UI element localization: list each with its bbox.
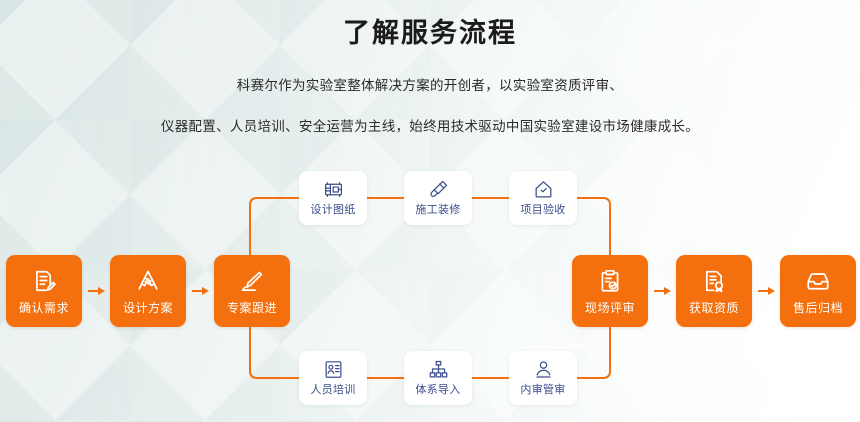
id-card-person-icon — [323, 359, 344, 380]
org-chart-icon — [428, 359, 449, 380]
sub-card-label: 人员培训 — [310, 384, 355, 397]
compass-draft-icon — [135, 268, 161, 294]
sub-card-staff-training[interactable]: 人员培训 — [299, 351, 367, 405]
sub-card-label: 内审管审 — [520, 384, 565, 397]
right-arrow-icon-1 — [88, 284, 106, 298]
right-arrow-icon-4 — [758, 284, 776, 298]
step-box-design-plan[interactable]: 设计方案 — [110, 255, 186, 327]
step-box-confirm-requirements[interactable]: 确认需求 — [6, 255, 82, 327]
step-box-onsite-review[interactable]: 现场评审 — [572, 255, 648, 327]
step-box-obtain-qualification[interactable]: 获取资质 — [676, 255, 752, 327]
paint-roller-icon — [428, 179, 449, 200]
sub-card-project-acceptance[interactable]: 项目验收 — [509, 171, 577, 225]
clipboard-check-icon — [597, 268, 623, 294]
right-arrow-icon-2 — [192, 284, 210, 298]
step-box-after-sales-archive[interactable]: 售后归档 — [780, 255, 856, 327]
step-label: 设计方案 — [123, 301, 173, 315]
sub-card-design-drawings[interactable]: 设计图纸 — [299, 171, 367, 225]
step-label: 现场评审 — [585, 301, 635, 315]
sub-card-label: 体系导入 — [415, 384, 460, 397]
sub-card-label: 施工装修 — [415, 204, 460, 217]
sub-card-internal-audit[interactable]: 内审管审 — [509, 351, 577, 405]
step-label: 获取资质 — [689, 301, 739, 315]
right-arrow-icon-3 — [654, 284, 672, 298]
document-pencil-icon — [31, 268, 57, 294]
step-label: 确认需求 — [19, 301, 69, 315]
service-process-flow: 确认需求 设计方案 专案跟进 现场评审 — [0, 0, 860, 422]
house-check-icon — [533, 179, 554, 200]
step-label: 售后归档 — [793, 301, 843, 315]
signature-pen-icon — [239, 268, 265, 294]
step-label: 专案跟进 — [227, 301, 277, 315]
sub-card-label: 项目验收 — [520, 204, 565, 217]
sub-card-construction-decoration[interactable]: 施工装修 — [404, 171, 472, 225]
certificate-seal-icon — [701, 268, 727, 294]
archive-box-icon — [805, 268, 831, 294]
blueprint-floorplan-icon — [323, 179, 344, 200]
sub-card-system-introduction[interactable]: 体系导入 — [404, 351, 472, 405]
step-box-project-followup[interactable]: 专案跟进 — [214, 255, 290, 327]
person-stamp-icon — [533, 359, 554, 380]
sub-card-label: 设计图纸 — [310, 204, 355, 217]
